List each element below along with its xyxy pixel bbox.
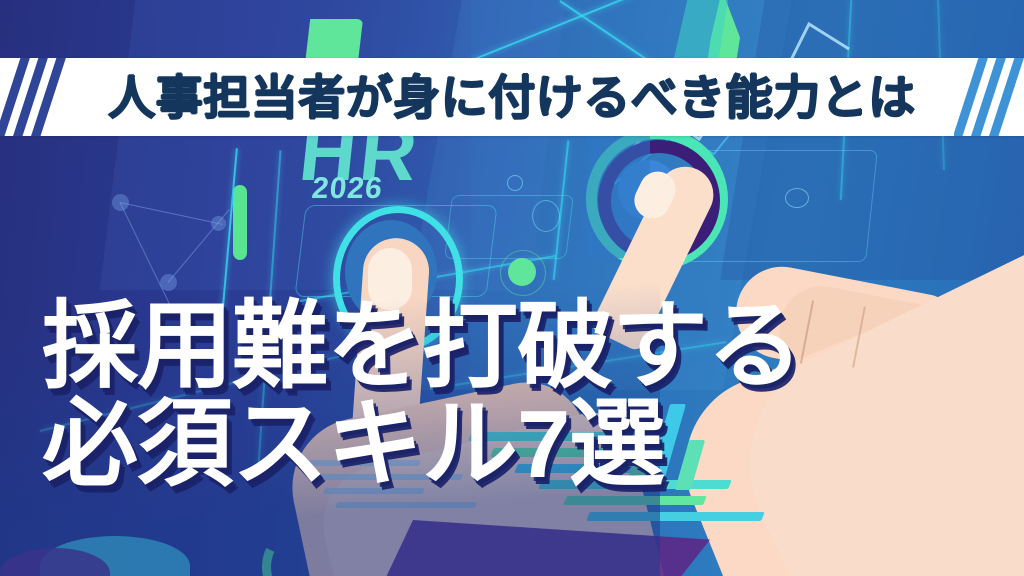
banner-title: 人事担当者が身に付けるべき能力とは bbox=[108, 74, 916, 121]
thumbnail-canvas: HR 2026 bbox=[0, 0, 1024, 576]
main-headline: 採用難を打破する 必須スキル7選 bbox=[42, 300, 802, 492]
headline-line-2: 必須スキル7選 bbox=[42, 398, 802, 492]
banner-stripes-left bbox=[0, 58, 70, 136]
green-pill-accent-left bbox=[233, 185, 247, 260]
headline-line-1: 採用難を打破する bbox=[42, 300, 802, 394]
year-watermark-label: 2026 bbox=[310, 172, 384, 206]
header-banner: 人事担当者が身に付けるべき能力とは bbox=[0, 58, 1024, 136]
banner-stripes-right bbox=[954, 58, 1024, 136]
